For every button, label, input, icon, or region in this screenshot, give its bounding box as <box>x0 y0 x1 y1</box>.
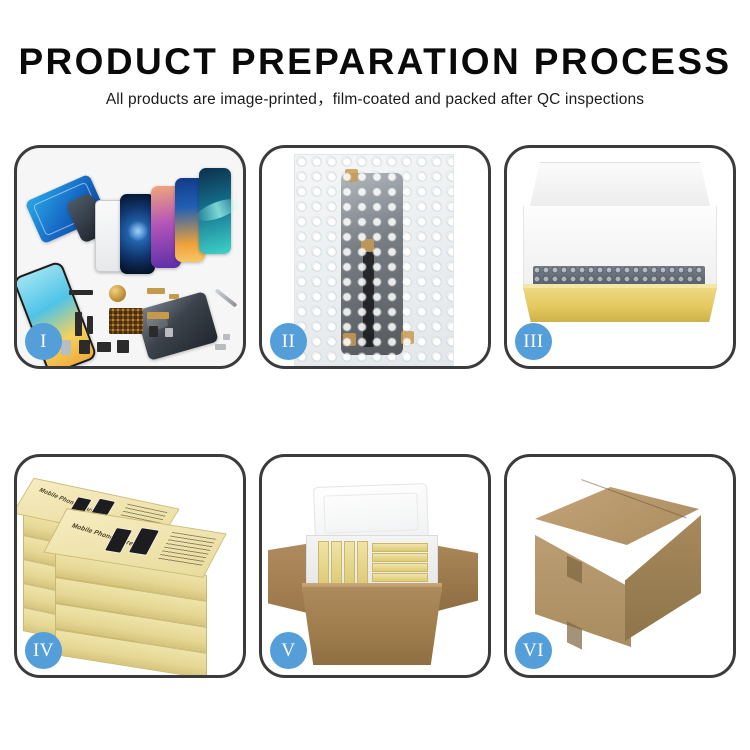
part-chip <box>147 312 169 319</box>
step-badge-6: VI <box>515 632 552 669</box>
carton-seam-line <box>567 479 687 557</box>
part-chip <box>75 312 82 336</box>
step-badge-2: II <box>270 323 307 360</box>
step-card-6: VI <box>504 454 736 678</box>
carton-body-graphic <box>302 587 442 665</box>
step-badge-3: III <box>515 323 552 360</box>
step-card-4: Mobile Phone Spare Parts Mobile Phone Sp… <box>14 454 246 678</box>
inner-box-graphic <box>331 541 342 585</box>
part-chip <box>149 326 158 337</box>
part-chip <box>69 290 93 295</box>
tape-piece <box>345 169 358 182</box>
inner-box-graphic <box>357 541 368 585</box>
part-chip <box>97 342 111 352</box>
inner-box-graphic <box>372 563 428 572</box>
speaker-module-graphic <box>109 285 126 302</box>
screwdriver-graphic <box>215 288 238 307</box>
tape-piece <box>361 239 374 252</box>
teal-phone-graphic <box>199 168 231 254</box>
carton-front-face <box>535 529 631 647</box>
box-front-panel-graphic <box>523 288 717 322</box>
phone-chassis-graphic <box>135 291 219 361</box>
product-preparation-infographic: PRODUCT PREPARATION PROCESS All products… <box>0 0 750 750</box>
page-title: PRODUCT PREPARATION PROCESS <box>0 40 750 84</box>
part-chip <box>169 294 179 299</box>
part-chip <box>165 328 173 337</box>
header: PRODUCT PREPARATION PROCESS All products… <box>0 0 750 110</box>
box-spec-lines <box>158 532 217 567</box>
inner-box-graphic <box>372 543 428 552</box>
bubble-bag-graphic <box>294 154 454 366</box>
part-chip <box>215 344 226 350</box>
blue-screen-phone-graphic <box>120 194 155 274</box>
box-lid-graphic <box>529 162 711 210</box>
page-subtitle: All products are image-printed，film-coat… <box>0 90 750 110</box>
part-chip <box>87 316 93 334</box>
step-badge-1: I <box>25 323 62 360</box>
part-chip <box>61 340 71 355</box>
inner-box-graphic <box>318 541 329 585</box>
part-chip <box>117 340 129 353</box>
logic-board-graphic <box>109 308 143 334</box>
step-card-5: V <box>259 454 491 678</box>
step-card-2: II <box>259 145 491 369</box>
step-card-3: III <box>504 145 736 369</box>
box-phone-image <box>128 527 161 556</box>
part-chip <box>79 340 90 354</box>
flex-cable-graphic <box>363 251 374 347</box>
inner-box-graphic <box>372 553 428 562</box>
tape-piece <box>401 331 414 344</box>
part-chip <box>147 288 165 294</box>
foam-lid-graphic <box>313 483 429 543</box>
step-badge-4: IV <box>25 632 62 669</box>
process-step-grid: I II <box>14 145 736 735</box>
tape-piece <box>343 333 356 346</box>
step-badge-5: V <box>270 632 307 669</box>
step-card-1: I <box>14 145 246 369</box>
part-chip <box>223 334 230 340</box>
inner-box-graphic <box>344 541 355 585</box>
inner-box-graphic <box>372 573 428 582</box>
